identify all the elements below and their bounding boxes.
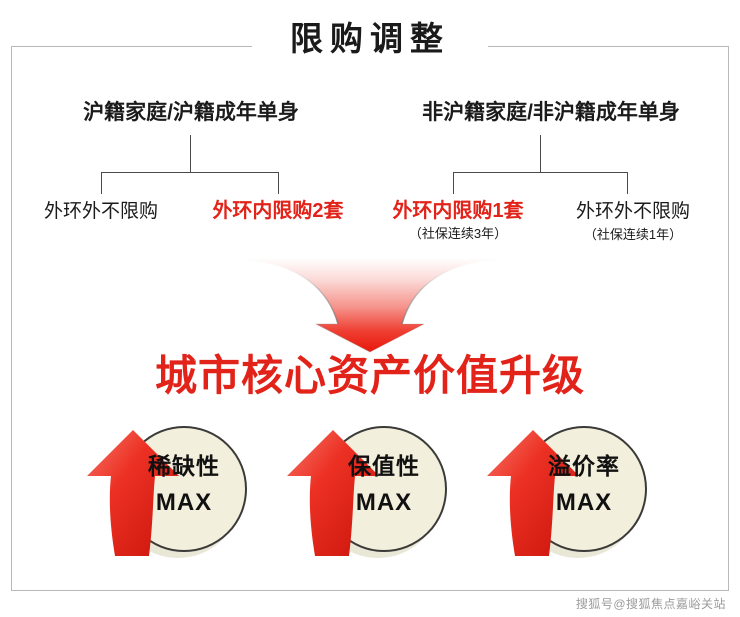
page-title: 限购调整 (0, 17, 740, 61)
badge-value: MAX (521, 486, 647, 520)
left-bracket-bar (101, 172, 279, 173)
leaf-note: （社保连续3年） (372, 224, 544, 244)
leaf-label: 外环外不限购 (21, 199, 181, 225)
leaf-label: 外环外不限购 (551, 199, 715, 225)
headline: 城市核心资产价值升级 (0, 349, 740, 403)
right-bracket-bar (453, 172, 628, 173)
infographic-canvas: 限购调整 沪籍家庭/沪籍成年单身 外环外不限购 外环内限购2套 非沪籍家庭/非沪… (0, 0, 740, 617)
badge-title: 稀缺性 (121, 446, 247, 486)
badge-title: 保值性 (321, 446, 447, 486)
group-heading-local: 沪籍家庭/沪籍成年单身 (36, 96, 346, 126)
watermark: 搜狐号@搜狐焦点嘉峪关站 (576, 595, 726, 612)
group-heading-nonlocal: 非沪籍家庭/非沪籍成年单身 (386, 96, 716, 126)
left-bracket-drop-2 (278, 172, 279, 194)
down-arrow-icon (243, 258, 497, 354)
leaf-left-2: 外环内限购2套 (192, 198, 364, 224)
badge-title: 溢价率 (521, 446, 647, 486)
badge-scarcity: 稀缺性 MAX (75, 424, 275, 556)
badge-text: 溢价率 MAX (521, 446, 647, 520)
leaf-right-1: 外环内限购1套 （社保连续3年） (372, 198, 544, 244)
right-bracket-drop-1 (453, 172, 454, 194)
leaf-note: （社保连续1年） (551, 225, 715, 245)
leaf-label: 外环内限购2套 (192, 198, 364, 224)
leaf-right-2: 外环外不限购 （社保连续1年） (551, 199, 715, 245)
badge-premium-rate: 溢价率 MAX (475, 424, 675, 556)
leaf-label: 外环内限购1套 (372, 198, 544, 224)
right-bracket-stem (540, 135, 541, 173)
left-bracket-drop-1 (101, 172, 102, 194)
right-bracket-drop-2 (627, 172, 628, 194)
badge-value: MAX (321, 486, 447, 520)
badge-value: MAX (121, 486, 247, 520)
badge-text: 保值性 MAX (321, 446, 447, 520)
left-bracket-stem (190, 135, 191, 173)
badge-value-retention: 保值性 MAX (275, 424, 475, 556)
badge-text: 稀缺性 MAX (121, 446, 247, 520)
leaf-left-1: 外环外不限购 (21, 199, 181, 225)
